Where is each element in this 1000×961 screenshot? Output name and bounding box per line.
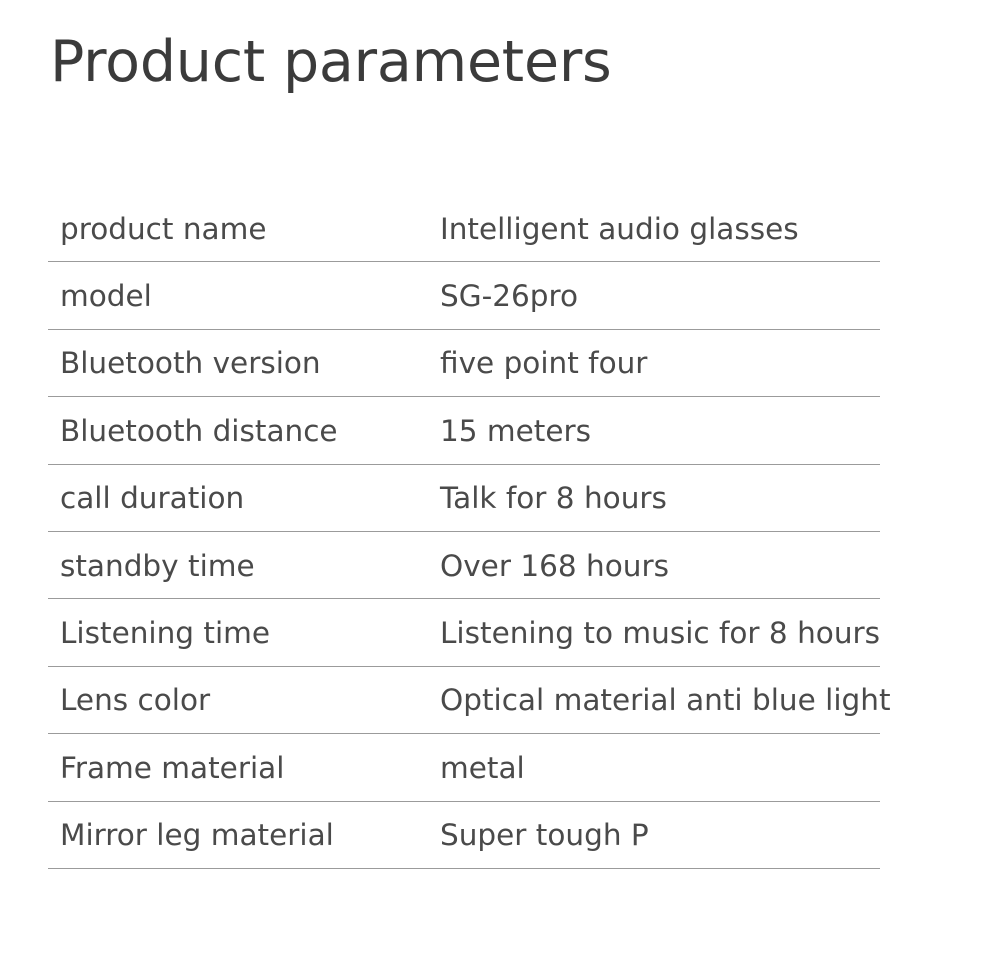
table-row: Bluetooth version five point four (48, 330, 880, 397)
spec-value: Over 168 hours (440, 549, 669, 583)
spec-label: Mirror leg material (48, 818, 440, 852)
spec-value: SG-26pro (440, 279, 578, 313)
spec-label: standby time (48, 549, 440, 583)
spec-label: model (48, 279, 440, 313)
spec-value: Intelligent audio glasses (440, 212, 799, 246)
spec-value: Talk for 8 hours (440, 481, 667, 515)
table-row: Bluetooth distance 15 meters (48, 397, 880, 464)
table-row: product name Intelligent audio glasses (48, 195, 880, 262)
table-row: call duration Talk for 8 hours (48, 465, 880, 532)
spec-label: Lens color (48, 683, 440, 717)
spec-value: five point four (440, 346, 647, 380)
spec-label: Listening time (48, 616, 440, 650)
page-title: Product parameters (50, 26, 612, 98)
spec-value: Super tough P (440, 818, 649, 852)
spec-label: call duration (48, 481, 440, 515)
table-row: standby time Over 168 hours (48, 532, 880, 599)
table-row: Listening time Listening to music for 8 … (48, 599, 880, 666)
spec-value: 15 meters (440, 414, 591, 448)
spec-label: Bluetooth distance (48, 414, 440, 448)
product-spec-table: product name Intelligent audio glasses m… (48, 195, 880, 869)
table-row: Lens color Optical material anti blue li… (48, 667, 880, 734)
product-parameters-page: Product parameters product name Intellig… (0, 0, 1000, 961)
table-row: model SG-26pro (48, 262, 880, 329)
spec-label: Bluetooth version (48, 346, 440, 380)
spec-value: metal (440, 751, 525, 785)
table-row: Frame material metal (48, 734, 880, 801)
spec-value: Listening to music for 8 hours (440, 616, 880, 650)
spec-value: Optical material anti blue light (440, 683, 891, 717)
table-row: Mirror leg material Super tough P (48, 802, 880, 869)
spec-label: Frame material (48, 751, 440, 785)
spec-label: product name (48, 212, 440, 246)
